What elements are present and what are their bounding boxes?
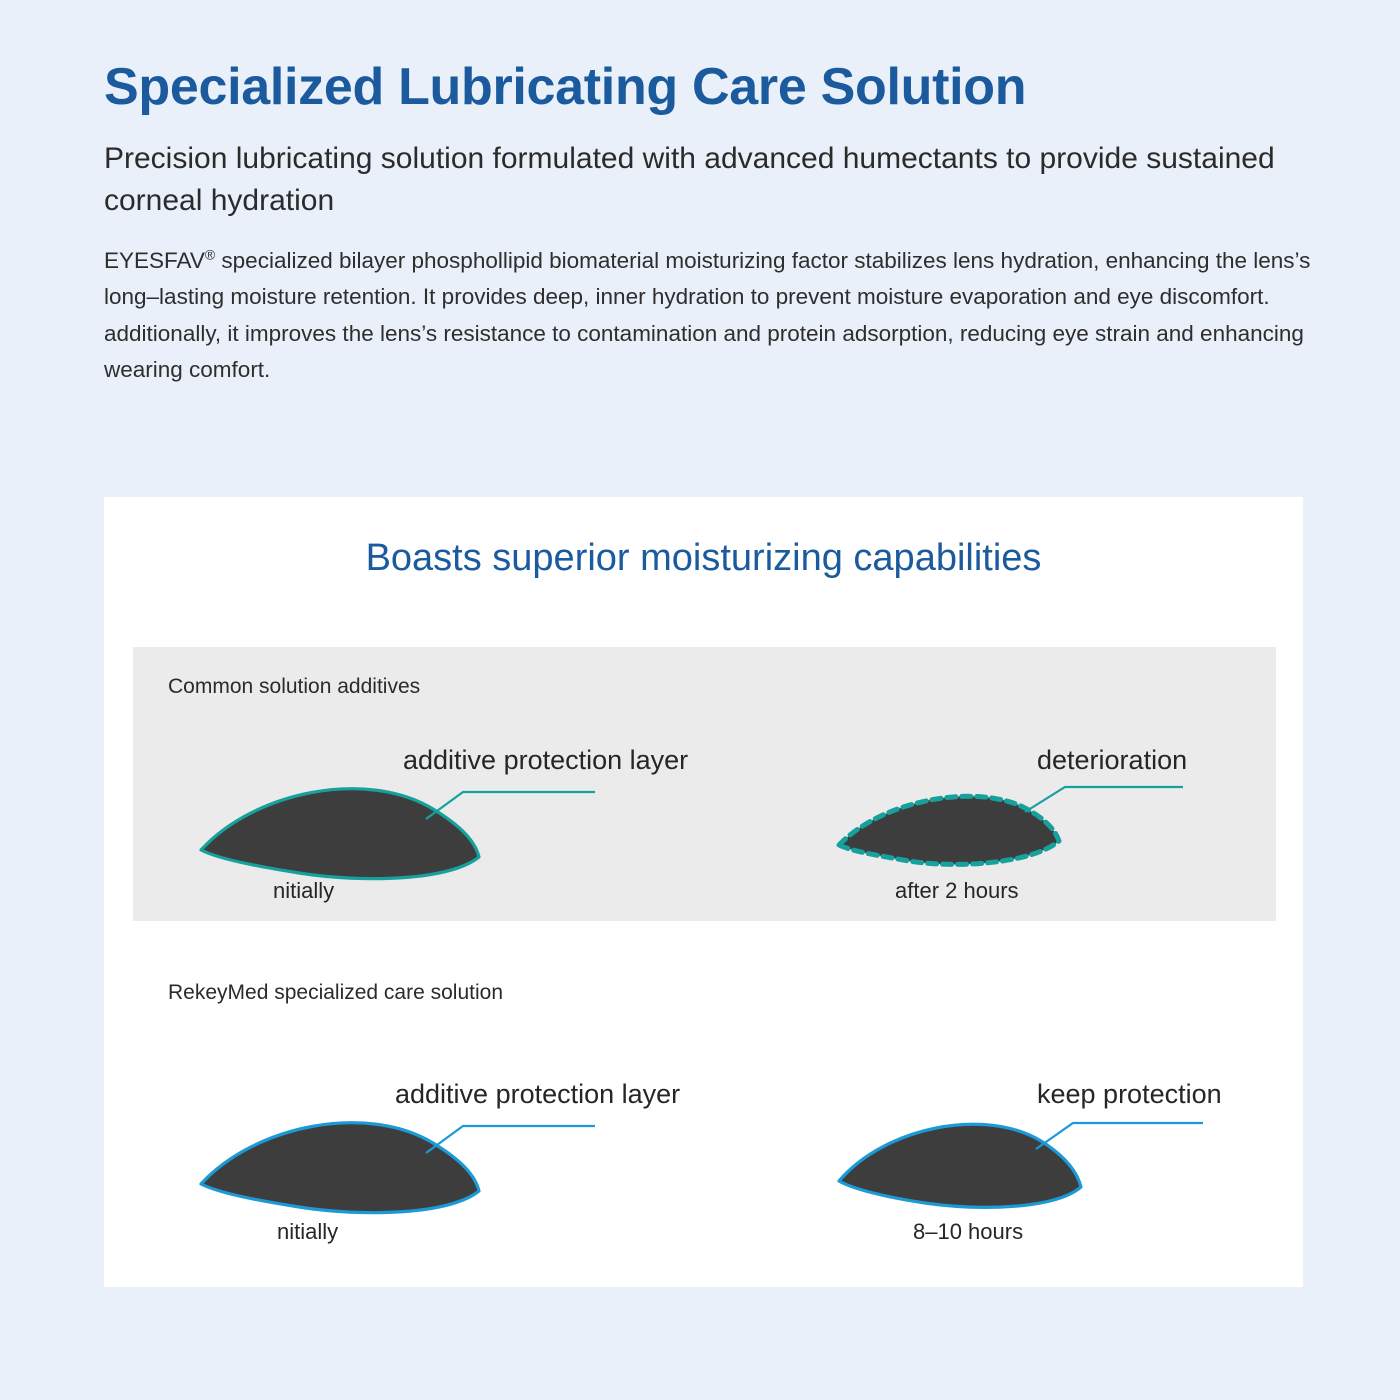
lens-shape-icon <box>839 1124 1081 1207</box>
header-block: Specialized Lubricating Care Solution Pr… <box>104 58 1344 389</box>
caption-initially: nitially <box>277 1219 338 1245</box>
brand-name: EYESFAV <box>104 248 205 273</box>
caption-after-2-hours: after 2 hours <box>895 878 1019 904</box>
lens-shape-icon <box>201 789 479 879</box>
comparison-card: Boasts superior moisturizing capabilitie… <box>104 497 1303 1287</box>
figure-rekey-8-10-hours: keep protection 8–10 hours <box>833 1079 1293 1257</box>
lens-shape-icon <box>201 1123 479 1213</box>
panel-label-rekeymed: RekeyMed specialized care solution <box>168 981 503 1005</box>
panel-label-common: Common solution additives <box>168 675 420 699</box>
figure-common-initial: additive protection layer nitially <box>195 745 715 915</box>
callout-leader-line <box>1036 1123 1203 1149</box>
callout-label-deterioration: deterioration <box>1037 745 1187 776</box>
caption-8-10-hours: 8–10 hours <box>913 1219 1023 1245</box>
registered-trademark-icon: ® <box>205 247 215 263</box>
lens-shape-icon <box>839 796 1059 864</box>
card-title: Boasts superior moisturizing capabilitie… <box>104 537 1303 580</box>
poster-page: Specialized Lubricating Care Solution Pr… <box>0 0 1400 1400</box>
callout-leader-line <box>1025 787 1183 812</box>
callout-label-additive-protection-layer: additive protection layer <box>403 745 688 776</box>
caption-initially: nitially <box>273 878 334 904</box>
panel-common-solution-additives: Common solution additives additive prote… <box>133 647 1276 921</box>
page-subtitle: Precision lubricating solution formulate… <box>104 138 1344 221</box>
body-paragraph-text: specialized bilayer phosphollipid biomat… <box>104 248 1310 382</box>
body-paragraph: EYESFAV® specialized bilayer phosphollip… <box>104 243 1329 389</box>
callout-label-keep-protection: keep protection <box>1037 1079 1222 1110</box>
figure-rekey-initial: additive protection layer nitially <box>195 1079 715 1257</box>
page-title: Specialized Lubricating Care Solution <box>104 58 1344 116</box>
callout-leader-line <box>426 792 595 819</box>
panel-rekeymed-care-solution: RekeyMed specialized care solution addit… <box>133 921 1276 1287</box>
callout-leader-line <box>426 1126 595 1153</box>
figure-common-after-2-hours: deterioration after 2 hours <box>833 745 1293 915</box>
callout-label-additive-protection-layer: additive protection layer <box>395 1079 680 1110</box>
